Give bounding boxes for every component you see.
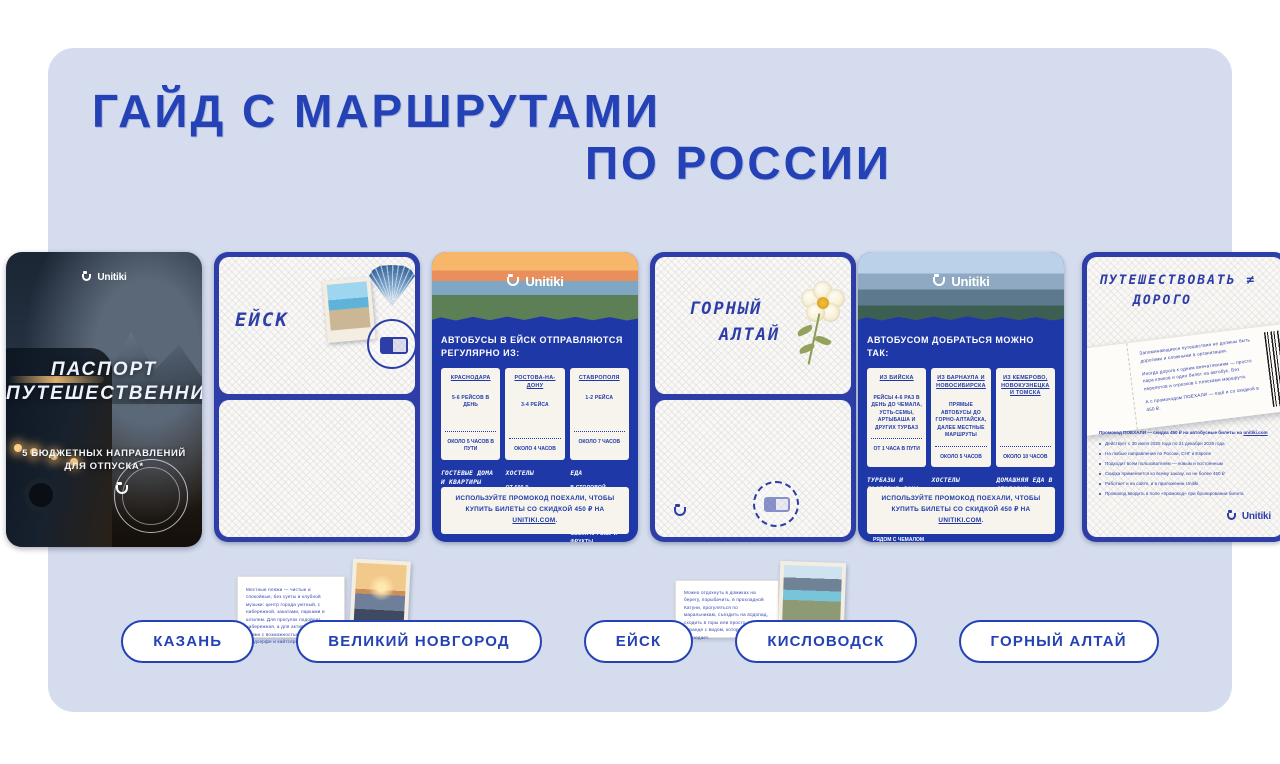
unitiki-mark-icon bbox=[1226, 511, 1237, 522]
route-duration: ОКОЛО 5 ЧАСОВ bbox=[935, 446, 986, 462]
promo-prefix: ИСПОЛЬЗУЙТЕ ПРОМОКОД bbox=[882, 495, 977, 502]
barcode-icon bbox=[1264, 330, 1280, 407]
promo-banner[interactable]: ИСПОЛЬЗУЙТЕ ПРОМОКОД ПОЕХАЛИ, ЧТОБЫ КУПИ… bbox=[441, 487, 629, 534]
yeysk-hero-photo: Unitiki bbox=[432, 252, 638, 324]
route-city: СТАВРОПОЛЯ bbox=[574, 375, 625, 383]
route-duration: ОКОЛО 10 ЧАСОВ bbox=[1000, 446, 1051, 462]
promo-term-item: Скидка применяется ко всему заказу, но н… bbox=[1099, 470, 1273, 477]
card-altai-page[interactable]: ГОРНЫЙ АЛТАЙ bbox=[650, 252, 856, 542]
unitiki-wordmark: Unitiki bbox=[525, 274, 563, 289]
route-column: ИЗ КЕМЕРОВО, НОВОКУЗНЕЦКА И ТОМСКА ОКОЛО… bbox=[996, 368, 1055, 467]
promo-term-item: Работает и на сайте, и в приложении Unit… bbox=[1099, 480, 1273, 487]
card-altai-info[interactable]: Unitiki АВТОБУСОМ ДОБРАТЬСЯ МОЖНО ТАК: И… bbox=[858, 252, 1064, 542]
route-frequency bbox=[1000, 410, 1051, 440]
promo-term-item: Действует с 30 июля 2025 года по 31 дека… bbox=[1099, 440, 1273, 447]
promo-terms-heading-text: Промокод ПОЕХАЛИ — скидка 450 ₽ на автоб… bbox=[1099, 430, 1243, 435]
card-passport-cover[interactable]: Unitiki ПАСПОРТ ПУТЕШЕСТВЕННИКА 5 БЮДЖЕТ… bbox=[6, 252, 202, 547]
unitiki-mark-icon bbox=[673, 505, 689, 521]
yeysk-info-heading: АВТОБУСЫ В ЕЙСК ОТПРАВЛЯЮТСЯ РЕГУЛЯРНО И… bbox=[441, 334, 629, 360]
route-city: РОСТОВА-НА-ДОНУ bbox=[509, 375, 560, 390]
unitiki-wordmark: Unitiki bbox=[97, 272, 126, 283]
destination-button-yeysk[interactable]: ЕЙСК bbox=[584, 620, 694, 663]
unitiki-logo bbox=[673, 505, 689, 521]
bus-ticket-illustration: Запоминающиеся путешествия не должны быт… bbox=[1087, 322, 1280, 436]
ticket-title: ПУТЕШЕСТВОВАТЬ ≠ ДОРОГО bbox=[1099, 271, 1275, 311]
unitiki-mark-icon bbox=[932, 275, 946, 289]
route-frequency: ПРЯМЫЕ АВТОБУСЫ ДО ГОРНО-АЛТАЙСКА, ДАЛЕЕ… bbox=[935, 402, 986, 440]
unitiki-mark-icon bbox=[506, 275, 520, 289]
route-city: ИЗ БИЙСКА bbox=[871, 375, 922, 383]
pressed-flower-icon bbox=[801, 281, 857, 367]
promo-terms: Промокод ПОЕХАЛИ — скидка 450 ₽ на автоб… bbox=[1099, 429, 1273, 500]
route-frequency: 3-4 РЕЙСА bbox=[509, 402, 560, 432]
unitiki-logo: Unitiki bbox=[1226, 509, 1271, 527]
promo-prefix: ИСПОЛЬЗУЙТЕ ПРОМОКОД bbox=[456, 495, 551, 502]
destination-button-gorny-altai[interactable]: ГОРНЫЙ АЛТАЙ bbox=[959, 620, 1159, 663]
yeysk-title: ЕЙСК bbox=[235, 309, 289, 331]
promo-term-item: Промокод вводить в поле «промокод» при б… bbox=[1099, 490, 1273, 497]
route-duration: ОКОЛО 7 ЧАСОВ bbox=[574, 431, 625, 447]
promo-terms-link[interactable]: unitiki.com bbox=[1243, 430, 1267, 435]
bus-stamp-icon bbox=[367, 319, 417, 369]
promo-suffix: . bbox=[981, 517, 983, 524]
route-column: РОСТОВА-НА-ДОНУ 3-4 РЕЙСА ОКОЛО 4 ЧАСОВ bbox=[505, 368, 564, 460]
promo-link[interactable]: UNITIKI.COM bbox=[512, 517, 555, 524]
tip-title: ХОСТЕЛЫ bbox=[506, 470, 565, 479]
unitiki-mark-icon bbox=[115, 483, 131, 499]
photo-polaroid bbox=[322, 277, 375, 343]
destination-button-veliky-novgorod[interactable]: ВЕЛИКИЙ НОВГОРОД bbox=[296, 620, 542, 663]
altai-hero-photo: Unitiki bbox=[858, 252, 1064, 324]
destination-button-kislovodsk[interactable]: КИСЛОВОДСК bbox=[735, 620, 916, 663]
route-frequency: 1-2 РЕЙСА bbox=[574, 395, 625, 425]
route-duration: ОТ 1 ЧАСА В ПУТИ bbox=[871, 438, 922, 454]
ticket-title-line-1: ПУТЕШЕСТВОВАТЬ ≠ bbox=[1099, 273, 1256, 288]
tip-title: ГОСТЕВЫЕ ДОМА И КВАРТИРЫ bbox=[441, 470, 500, 488]
seashell-sticker-icon bbox=[369, 265, 415, 307]
yeysk-routes: КРАСНОДАРА 5-6 РЕЙСОВ В ДЕНЬ ОКОЛО 5 ЧАС… bbox=[441, 368, 629, 460]
unitiki-logo: Unitiki bbox=[858, 274, 1064, 294]
altai-title-line-1: ГОРНЫЙ bbox=[689, 299, 762, 319]
unitiki-round-stamp bbox=[114, 459, 188, 533]
promo-code: ПОЕХАЛИ bbox=[551, 495, 585, 502]
altai-routes: ИЗ БИЙСКА РЕЙСЫ 4-6 РАЗ В ДЕНЬ ДО ЧЕМАЛА… bbox=[867, 368, 1055, 467]
route-city: КРАСНОДАРА bbox=[445, 375, 496, 383]
card-yeysk-page[interactable]: ЕЙСК Местные пляжи — чистые и спокойные,… bbox=[214, 252, 420, 542]
altai-title-line-2: АЛТАЙ bbox=[689, 323, 780, 349]
passport-page-top: ЕЙСК bbox=[219, 257, 415, 394]
bus-wheel bbox=[24, 478, 58, 512]
route-column: ИЗ БАРНАУЛА И НОВОСИБИРСКА ПРЯМЫЕ АВТОБУ… bbox=[931, 368, 990, 467]
passport-page-bottom: Местные пляжи — чистые и спокойные, без … bbox=[219, 400, 415, 537]
destination-buttons: КАЗАНЬ ВЕЛИКИЙ НОВГОРОД ЕЙСК КИСЛОВОДСК … bbox=[48, 620, 1232, 663]
page-root: ГАЙД С МАРШРУТАМИ ПО РОССИИ Unitiki ПАСП… bbox=[0, 0, 1280, 764]
ticket-title-line-2: ДОРОГО bbox=[1099, 291, 1275, 311]
unitiki-wordmark: Unitiki bbox=[1242, 511, 1271, 522]
route-city: ИЗ БАРНАУЛА И НОВОСИБИРСКА bbox=[935, 375, 986, 390]
unitiki-logo: Unitiki bbox=[432, 274, 638, 294]
page-title-line-2: ПО РОССИИ bbox=[92, 138, 892, 190]
route-city: ИЗ КЕМЕРОВО, НОВОКУЗНЕЦКА И ТОМСКА bbox=[1000, 375, 1051, 398]
promo-terms-heading: Промокод ПОЕХАЛИ — скидка 450 ₽ на автоб… bbox=[1099, 429, 1273, 436]
promo-banner[interactable]: ИСПОЛЬЗУЙТЕ ПРОМОКОД ПОЕХАЛИ, ЧТОБЫ КУПИ… bbox=[867, 487, 1055, 534]
promo-term-item: На любые направления по России, СНГ и Ев… bbox=[1099, 450, 1273, 457]
route-column: СТАВРОПОЛЯ 1-2 РЕЙСА ОКОЛО 7 ЧАСОВ bbox=[570, 368, 629, 460]
route-frequency: 5-6 РЕЙСОВ В ДЕНЬ bbox=[445, 395, 496, 425]
tip-title: ЕДА bbox=[570, 470, 629, 479]
unitiki-wordmark: Unitiki bbox=[951, 274, 989, 289]
passport-page-top: ГОРНЫЙ АЛТАЙ bbox=[655, 257, 851, 394]
promo-code: ПОЕХАЛИ bbox=[977, 495, 1011, 502]
promo-term-item: Подходит всем пользователям — новым и по… bbox=[1099, 460, 1273, 467]
card-ticket[interactable]: ПУТЕШЕСТВОВАТЬ ≠ ДОРОГО Запоминающиеся п… bbox=[1082, 252, 1280, 542]
route-column: КРАСНОДАРА 5-6 РЕЙСОВ В ДЕНЬ ОКОЛО 5 ЧАС… bbox=[441, 368, 500, 460]
route-duration: ОКОЛО 5 ЧАСОВ В ПУТИ bbox=[445, 431, 496, 454]
unitiki-logo: Unitiki bbox=[6, 270, 202, 288]
page-title: ГАЙД С МАРШРУТАМИ ПО РОССИИ bbox=[92, 86, 892, 189]
unitiki-mark-icon bbox=[81, 272, 92, 283]
cover-title-line-2: ПУТЕШЕСТВЕННИКА bbox=[6, 382, 202, 406]
page-title-line-1: ГАЙД С МАРШРУТАМИ bbox=[92, 86, 892, 138]
altai-info-heading: АВТОБУСОМ ДОБРАТЬСЯ МОЖНО ТАК: bbox=[867, 334, 1055, 360]
promo-link[interactable]: UNITIKI.COM bbox=[938, 517, 981, 524]
card-yeysk-info[interactable]: Unitiki АВТОБУСЫ В ЕЙСК ОТПРАВЛЯЮТСЯ РЕГ… bbox=[432, 252, 638, 542]
promo-suffix: . bbox=[555, 517, 557, 524]
cover-title: ПАСПОРТ ПУТЕШЕСТВЕННИКА bbox=[6, 358, 202, 406]
tip-title: ХОСТЕЛЫ bbox=[932, 477, 991, 486]
altai-title: ГОРНЫЙ АЛТАЙ bbox=[689, 297, 780, 348]
ticket-perforation bbox=[1126, 343, 1138, 429]
passport-page-bottom: Можно отдохнуть в домиках на берегу, пор… bbox=[655, 400, 851, 537]
route-duration: ОКОЛО 4 ЧАСОВ bbox=[509, 438, 560, 454]
route-column: ИЗ БИЙСКА РЕЙСЫ 4-6 РАЗ В ДЕНЬ ДО ЧЕМАЛА… bbox=[867, 368, 926, 467]
route-frequency: РЕЙСЫ 4-6 РАЗ В ДЕНЬ ДО ЧЕМАЛА, УСТЬ-СЕМ… bbox=[871, 395, 922, 433]
round-stamp-icon bbox=[753, 481, 799, 527]
guide-cards-strip: Unitiki ПАСПОРТ ПУТЕШЕСТВЕННИКА 5 БЮДЖЕТ… bbox=[0, 252, 1280, 552]
stamp-mark bbox=[115, 483, 187, 499]
cover-title-line-1: ПАСПОРТ bbox=[6, 358, 202, 382]
destination-button-kazan[interactable]: КАЗАНЬ bbox=[121, 620, 254, 663]
